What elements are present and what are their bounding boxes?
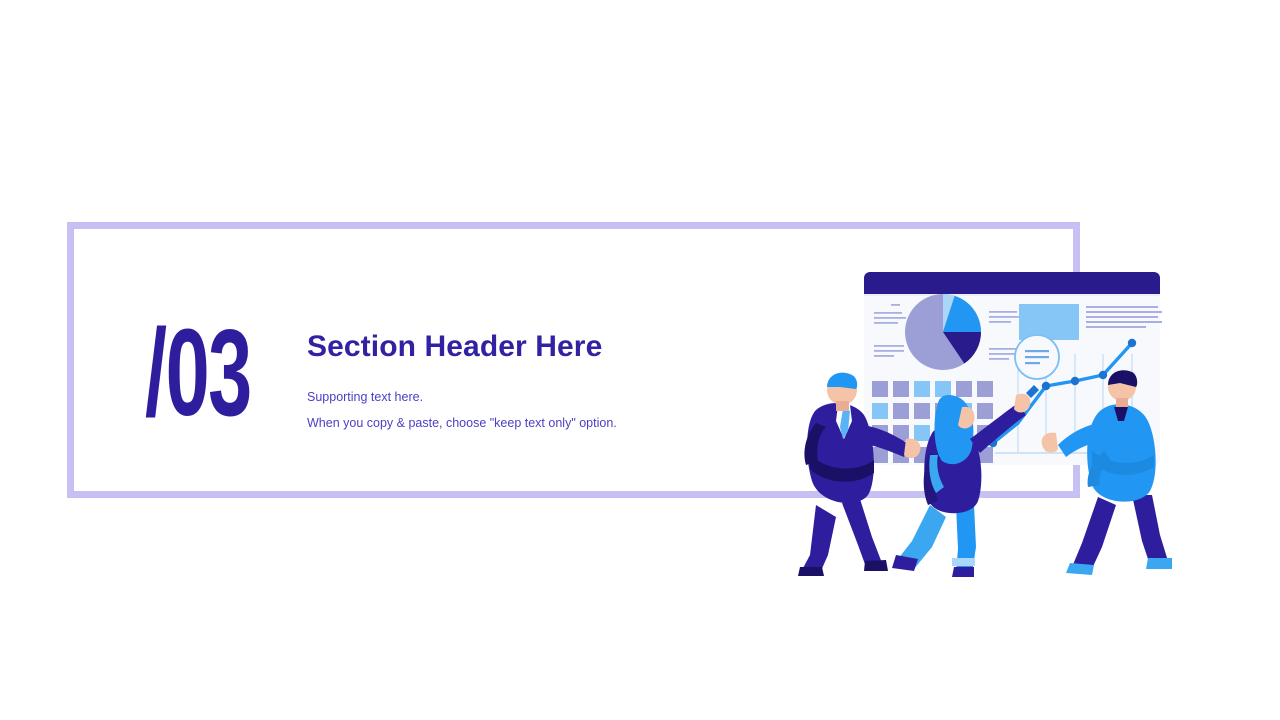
supporting-text-line-1: Supporting text here. (307, 384, 827, 410)
magnifier-icon (1015, 335, 1059, 379)
supporting-text-line-2: When you copy & paste, choose "keep text… (307, 410, 827, 436)
pie-chart (905, 294, 981, 370)
slide-canvas: /03 Section Header Here Supporting text … (0, 0, 1280, 720)
section-number: /03 (145, 312, 251, 435)
page-title: Section Header Here (307, 328, 827, 366)
section-text-block: Section Header Here Supporting text here… (307, 328, 827, 436)
team-data-illustration (780, 255, 1220, 595)
board-image-block (1019, 304, 1079, 340)
